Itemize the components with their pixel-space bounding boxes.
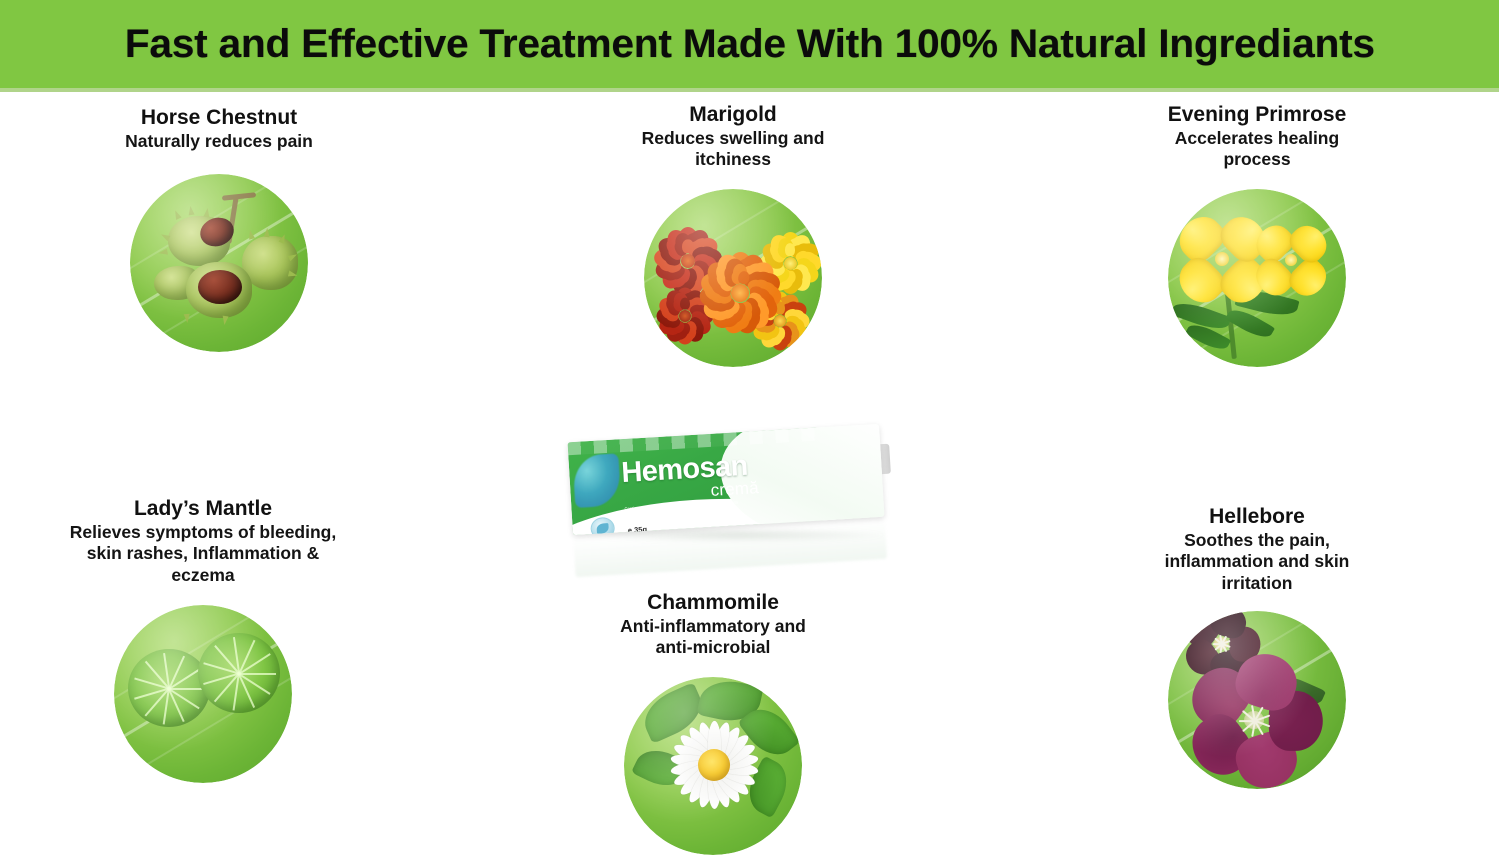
ingredient-title: Evening Primrose	[1112, 103, 1402, 127]
ingredient-marigold: Marigold Reduces swelling and itchiness	[588, 103, 878, 367]
header-banner: Fast and Effective Treatment Made With 1…	[0, 0, 1499, 88]
ingredient-image-marigold	[644, 189, 822, 367]
petal	[682, 239, 693, 254]
chestnut-spike	[247, 230, 255, 240]
ingredient-image-chammomile	[624, 677, 802, 855]
ingredient-horse-chestnut: Horse Chestnut Naturally reduces pain	[74, 106, 364, 352]
ingredient-title: Lady’s Mantle	[58, 497, 348, 521]
ingredient-title: Hellebore	[1112, 505, 1402, 529]
chamomile-flower	[658, 709, 770, 821]
horse-chestnut-art	[130, 174, 308, 352]
ingredient-description: Anti-inflammatory and anti-microbial	[568, 616, 858, 660]
chestnut-spike	[158, 249, 168, 256]
marigold-art	[644, 189, 822, 367]
hellebore-flower-purple	[1202, 673, 1306, 769]
ingredient-title: Chammomile	[568, 591, 858, 615]
leaf-vein	[169, 688, 205, 690]
product-image: ALIPHIA natural health products Hemosan …	[530, 400, 940, 580]
primrose-flower	[1260, 229, 1322, 291]
ingredient-description: Naturally reduces pain	[74, 131, 364, 153]
ingredient-description: Soothes the pain, inflammation and skin …	[1112, 530, 1402, 596]
ingredient-hellebore: Hellebore Soothes the pain, inflammation…	[1112, 505, 1402, 789]
ingredient-title: Marigold	[588, 103, 878, 127]
primrose-center	[1285, 254, 1297, 266]
chestnut-spike	[221, 316, 228, 326]
marigold-petals	[688, 241, 792, 345]
ingredient-evening-primrose: Evening Primrose Accelerates healing pro…	[1112, 103, 1402, 367]
chestnut-spike	[184, 314, 191, 323]
product-subtitle: cremă	[710, 479, 759, 499]
primrose-center	[1215, 252, 1229, 266]
hellebore-art	[1168, 611, 1346, 789]
product-tube: ALIPHIA natural health products Hemosan …	[568, 424, 885, 535]
banner-bottom-edge	[0, 88, 1499, 92]
ingredient-title: Horse Chestnut	[74, 106, 364, 130]
mantle-leaf	[198, 633, 280, 713]
ingredient-image-hellebore	[1168, 611, 1346, 789]
chammomile-art	[624, 677, 802, 855]
ingredient-image-ladys-mantle	[114, 605, 292, 783]
leaf-vein	[239, 673, 276, 675]
evening-primrose-art	[1168, 189, 1346, 367]
ingredient-description: Accelerates healing process	[1112, 128, 1402, 172]
chestnut-stem	[222, 193, 256, 202]
page-title: Fast and Effective Treatment Made With 1…	[124, 22, 1374, 67]
ingredient-ladys-mantle: Lady’s Mantle Relieves symptoms of bleed…	[58, 497, 348, 783]
ingredient-image-horse-chestnut	[130, 174, 308, 352]
ingredient-description: Relieves symptoms of bleeding, skin rash…	[58, 522, 348, 588]
mantle-leaf	[128, 649, 210, 727]
chestnut-spike	[264, 228, 271, 237]
chestnut-spike	[172, 210, 181, 221]
petal	[785, 243, 796, 256]
chestnut-spike	[187, 206, 194, 216]
ingredient-chammomile: Chammomile Anti-inflammatory and anti-mi…	[568, 591, 858, 855]
marigold-bloom-orange	[688, 241, 792, 345]
ladys-mantle-art	[114, 605, 292, 783]
primrose-flower	[1184, 221, 1260, 297]
ingredient-image-evening-primrose	[1168, 189, 1346, 367]
ingredient-description: Reduces swelling and itchiness	[588, 128, 878, 172]
